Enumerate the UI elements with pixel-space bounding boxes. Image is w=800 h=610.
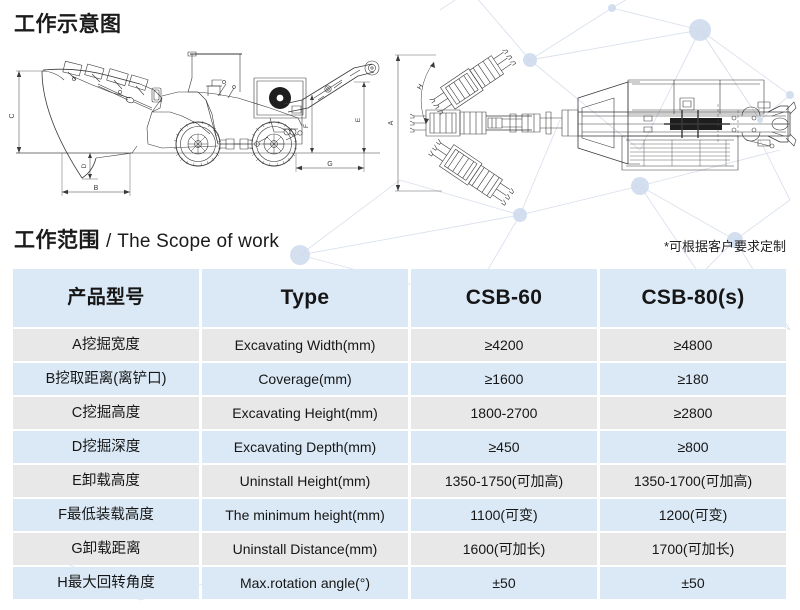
cell-value-csb60: ≥450 <box>411 431 597 463</box>
table-header-row: 产品型号 Type CSB-60 CSB-80(s) <box>13 269 786 327</box>
table-row: B挖取距离(离铲口)Coverage(mm)≥1600≥180 <box>13 363 786 395</box>
side-view-backhoe-loader-drawing: C D B F <box>2 40 380 212</box>
cell-value-csb80: ±50 <box>600 567 786 599</box>
cell-value-csb60: 1800-2700 <box>411 397 597 429</box>
header-product-model: 产品型号 <box>13 269 199 327</box>
table-row: F最低装载高度The minimum height(mm)1100(可变)120… <box>13 499 786 531</box>
cell-value-csb80: 1700(可加长) <box>600 533 786 565</box>
table-row: E卸载高度Uninstall Height(mm)1350-1750(可加高)1… <box>13 465 786 497</box>
cell-spec-cn: C挖掘高度 <box>13 397 199 429</box>
header-type: Type <box>202 269 408 327</box>
cell-value-csb60: ≥4200 <box>411 329 597 361</box>
top-view-rotation-range-drawing: A H <box>382 40 798 212</box>
table-row: H最大回转角度Max.rotation angle(°)±50±50 <box>13 567 786 599</box>
cell-spec-cn: D挖掘深度 <box>13 431 199 463</box>
header-csb-80s: CSB-80(s) <box>600 269 786 327</box>
cell-spec-en: Excavating Width(mm) <box>202 329 408 361</box>
cell-value-csb60: 1100(可变) <box>411 499 597 531</box>
cell-value-csb80: ≥2800 <box>600 397 786 429</box>
table-row: G卸载距离Uninstall Distance(mm)1600(可加长)1700… <box>13 533 786 565</box>
header-csb-60: CSB-60 <box>411 269 597 327</box>
spec-sheet-page: 工作示意图 C D <box>0 0 800 610</box>
svg-text:C: C <box>9 113 16 118</box>
svg-text:F: F <box>303 124 310 128</box>
specification-table: 产品型号 Type CSB-60 CSB-80(s) A挖掘宽度Excavati… <box>10 267 789 601</box>
cell-spec-cn: A挖掘宽度 <box>13 329 199 361</box>
customization-note: *可根据客户要求定制 <box>664 236 786 255</box>
cell-spec-en: The minimum height(mm) <box>202 499 408 531</box>
cell-spec-en: Uninstall Distance(mm) <box>202 533 408 565</box>
cell-spec-en: Excavating Depth(mm) <box>202 431 408 463</box>
svg-text:E: E <box>355 117 362 122</box>
scope-heading-en: The Scope of work <box>117 231 279 253</box>
cell-spec-en: Max.rotation angle(°) <box>202 567 408 599</box>
cell-value-csb80: 1350-1700(可加高) <box>600 465 786 497</box>
cell-value-csb80: 1200(可变) <box>600 499 786 531</box>
scope-heading: 工作范围 / The Scope of work <box>14 224 279 254</box>
cell-spec-en: Excavating Height(mm) <box>202 397 408 429</box>
svg-text:G: G <box>327 161 332 168</box>
scope-heading-cn: 工作范围 <box>14 224 100 254</box>
cell-value-csb60: 1600(可加长) <box>411 533 597 565</box>
cell-spec-cn: H最大回转角度 <box>13 567 199 599</box>
cell-value-csb60: 1350-1750(可加高) <box>411 465 597 497</box>
cell-value-csb60: ≥1600 <box>411 363 597 395</box>
cell-value-csb80: ≥800 <box>600 431 786 463</box>
svg-text:B: B <box>94 185 99 192</box>
table-row: A挖掘宽度Excavating Width(mm)≥4200≥4800 <box>13 329 786 361</box>
cell-value-csb80: ≥180 <box>600 363 786 395</box>
diagram-area: C D B F <box>0 40 800 212</box>
page-title: 工作示意图 <box>14 8 122 38</box>
cell-spec-cn: F最低装载高度 <box>13 499 199 531</box>
svg-text:D: D <box>81 163 88 168</box>
svg-text:A: A <box>388 120 395 125</box>
svg-text:H: H <box>416 83 425 91</box>
cell-spec-cn: G卸载距离 <box>13 533 199 565</box>
cell-spec-cn: E卸载高度 <box>13 465 199 497</box>
table-body: A挖掘宽度Excavating Width(mm)≥4200≥4800B挖取距离… <box>13 329 786 599</box>
table-row: D挖掘深度Excavating Depth(mm)≥450≥800 <box>13 431 786 463</box>
cell-spec-en: Uninstall Height(mm) <box>202 465 408 497</box>
cell-spec-cn: B挖取距离(离铲口) <box>13 363 199 395</box>
cell-value-csb60: ±50 <box>411 567 597 599</box>
cell-spec-en: Coverage(mm) <box>202 363 408 395</box>
scope-heading-sep: / <box>106 231 111 253</box>
cell-value-csb80: ≥4800 <box>600 329 786 361</box>
table-row: C挖掘高度Excavating Height(mm)1800-2700≥2800 <box>13 397 786 429</box>
